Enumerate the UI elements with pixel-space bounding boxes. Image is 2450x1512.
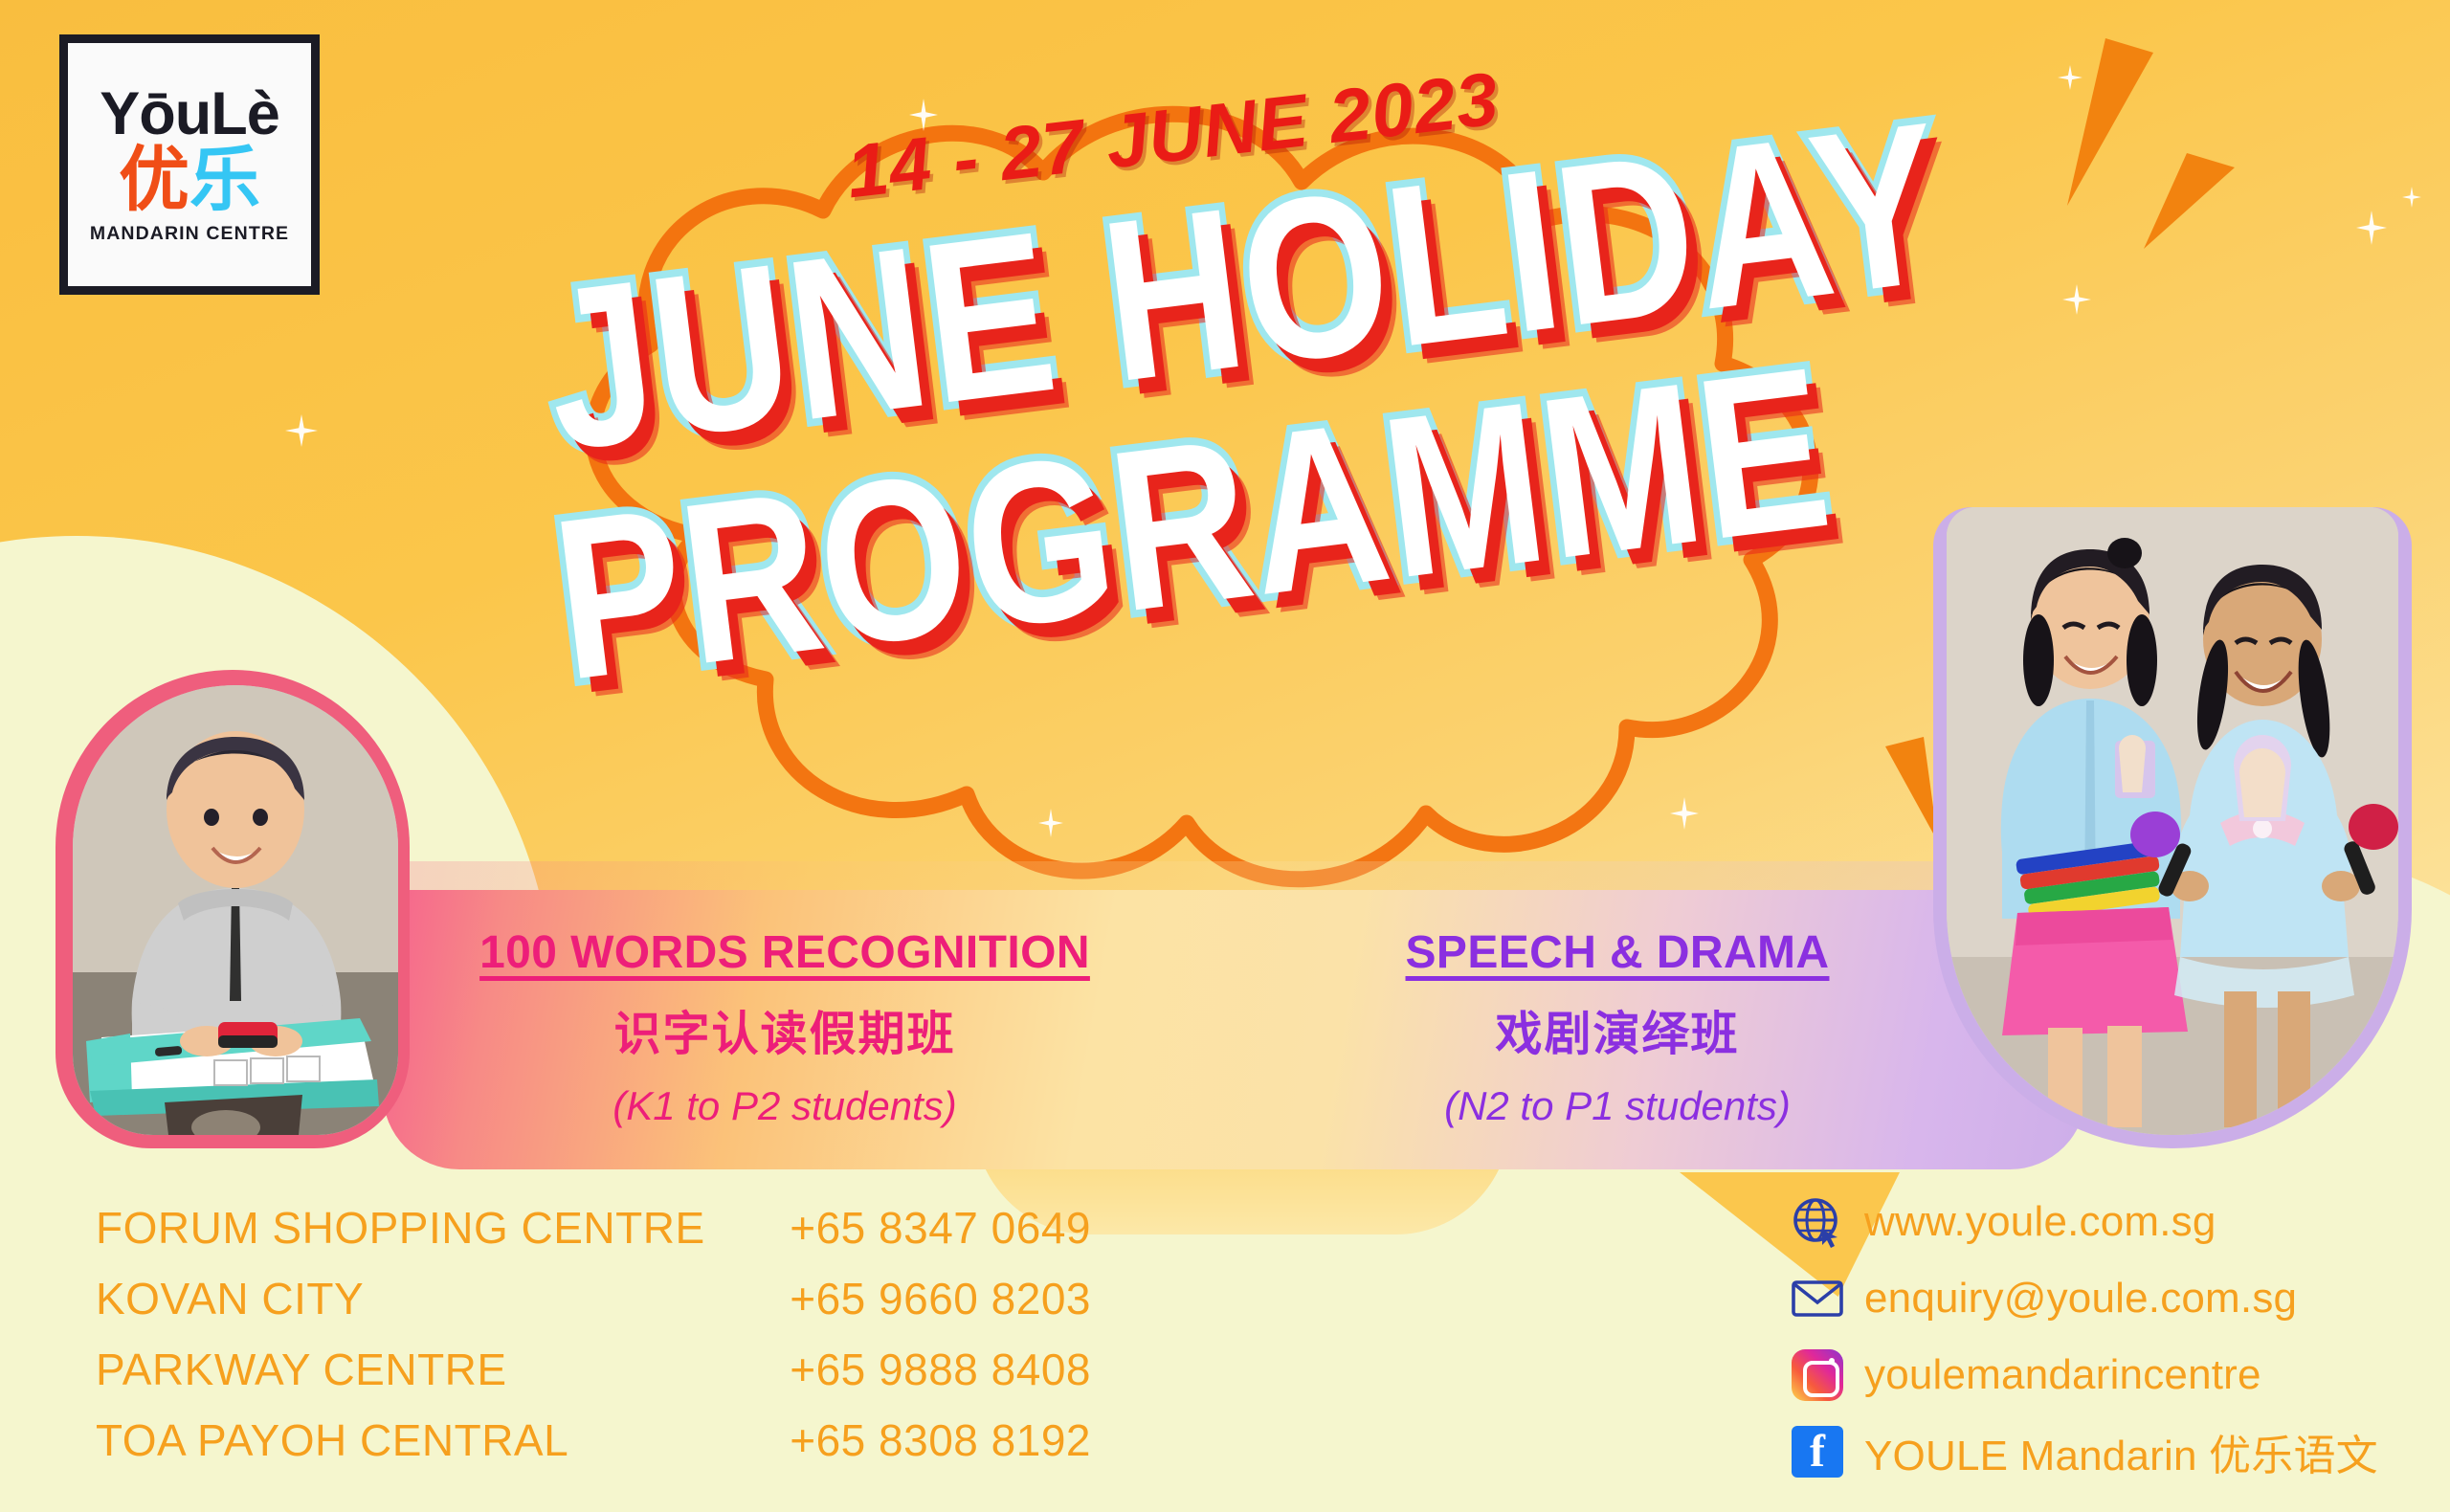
brand-logo-subtitle: MANDARIN CENTRE <box>90 223 289 245</box>
location-row: FORUM SHOPPING CENTRE +65 8347 0649 <box>96 1202 1129 1254</box>
course-title: SPEECH & DRAMA <box>1273 926 1962 979</box>
course-title-chinese: 戏剧演绎班 <box>1273 996 1962 1064</box>
contact-link-facebook[interactable]: f YOULE Mandarin 优乐语文 <box>1790 1424 2378 1479</box>
contact-link-label: enquiry@youle.com.sg <box>1864 1275 2297 1323</box>
contact-link-label: youlemandarincentre <box>1864 1351 2261 1399</box>
main-title: JUNE HOLIDAY PROGRAMME <box>536 268 1971 813</box>
brand-logo-char-le: 乐 <box>189 139 260 221</box>
course-band: 100 WORDS RECOGNITION 识字认读假期班 (K1 to P2 … <box>383 890 2086 1169</box>
brand-logo-chinese: 优乐 <box>119 145 260 215</box>
course-title: 100 WORDS RECOGNITION <box>440 926 1129 979</box>
brand-logo-char-you: 优 <box>119 139 189 221</box>
globe-icon <box>1790 1194 1845 1250</box>
locations-list: FORUM SHOPPING CENTRE +65 8347 0649 KOVA… <box>96 1202 1129 1485</box>
instagram-icon <box>1790 1347 1845 1403</box>
brand-logo-inner: YōuLè 优乐 MANDARIN CENTRE <box>68 43 311 286</box>
course-title-chinese: 识字认读假期班 <box>440 996 1129 1064</box>
contact-link-email[interactable]: enquiry@youle.com.sg <box>1790 1271 2378 1326</box>
location-row: TOA PAYOH CENTRAL +65 8308 8192 <box>96 1414 1129 1466</box>
envelope-icon <box>1790 1271 1845 1326</box>
burst-rays-top-right-icon <box>1962 29 2278 316</box>
photo-frame-right <box>1933 507 2412 1148</box>
photo-two-girls-with-instruments <box>1947 507 2398 1135</box>
facebook-icon: f <box>1790 1424 1845 1479</box>
location-name: KOVAN CITY <box>96 1273 727 1324</box>
location-name: PARKWAY CENTRE <box>96 1344 727 1395</box>
course-band-top-edge <box>383 861 2086 894</box>
course-card-speech-and-drama: SPEECH & DRAMA 戏剧演绎班 (N2 to P1 students) <box>1273 926 1962 1129</box>
location-phone[interactable]: +65 9660 8203 <box>727 1273 1091 1324</box>
brand-logo: YōuLè 优乐 MANDARIN CENTRE <box>59 34 320 295</box>
contact-links-list: www.youle.com.sg enquiry@youle.com.sg yo… <box>1790 1194 2378 1501</box>
contact-link-instagram[interactable]: youlemandarincentre <box>1790 1347 2378 1403</box>
location-phone[interactable]: +65 8347 0649 <box>727 1202 1091 1254</box>
location-phone[interactable]: +65 9888 8408 <box>727 1344 1091 1395</box>
location-row: PARKWAY CENTRE +65 9888 8408 <box>96 1344 1129 1395</box>
photo-boy-with-lap-desk <box>73 685 398 1135</box>
course-age-range: (N2 to P1 students) <box>1273 1083 1962 1129</box>
contact-link-label: www.youle.com.sg <box>1864 1198 2216 1246</box>
poster-canvas: YōuLè 优乐 MANDARIN CENTRE 14 - 27 JUNE 20… <box>0 0 2450 1512</box>
course-card-100-words-recognition: 100 WORDS RECOGNITION 识字认读假期班 (K1 to P2 … <box>440 926 1129 1129</box>
course-age-range: (K1 to P2 students) <box>440 1083 1129 1129</box>
photo-frame-left <box>56 670 410 1148</box>
location-name: TOA PAYOH CENTRAL <box>96 1414 727 1466</box>
location-phone[interactable]: +65 8308 8192 <box>727 1414 1091 1466</box>
location-name: FORUM SHOPPING CENTRE <box>96 1202 727 1254</box>
brand-logo-wordmark: YōuLè <box>100 86 279 144</box>
contact-link-label: YOULE Mandarin 优乐语文 <box>1864 1421 2378 1482</box>
contact-link-website[interactable]: www.youle.com.sg <box>1790 1194 2378 1250</box>
location-row: KOVAN CITY +65 9660 8203 <box>96 1273 1129 1324</box>
